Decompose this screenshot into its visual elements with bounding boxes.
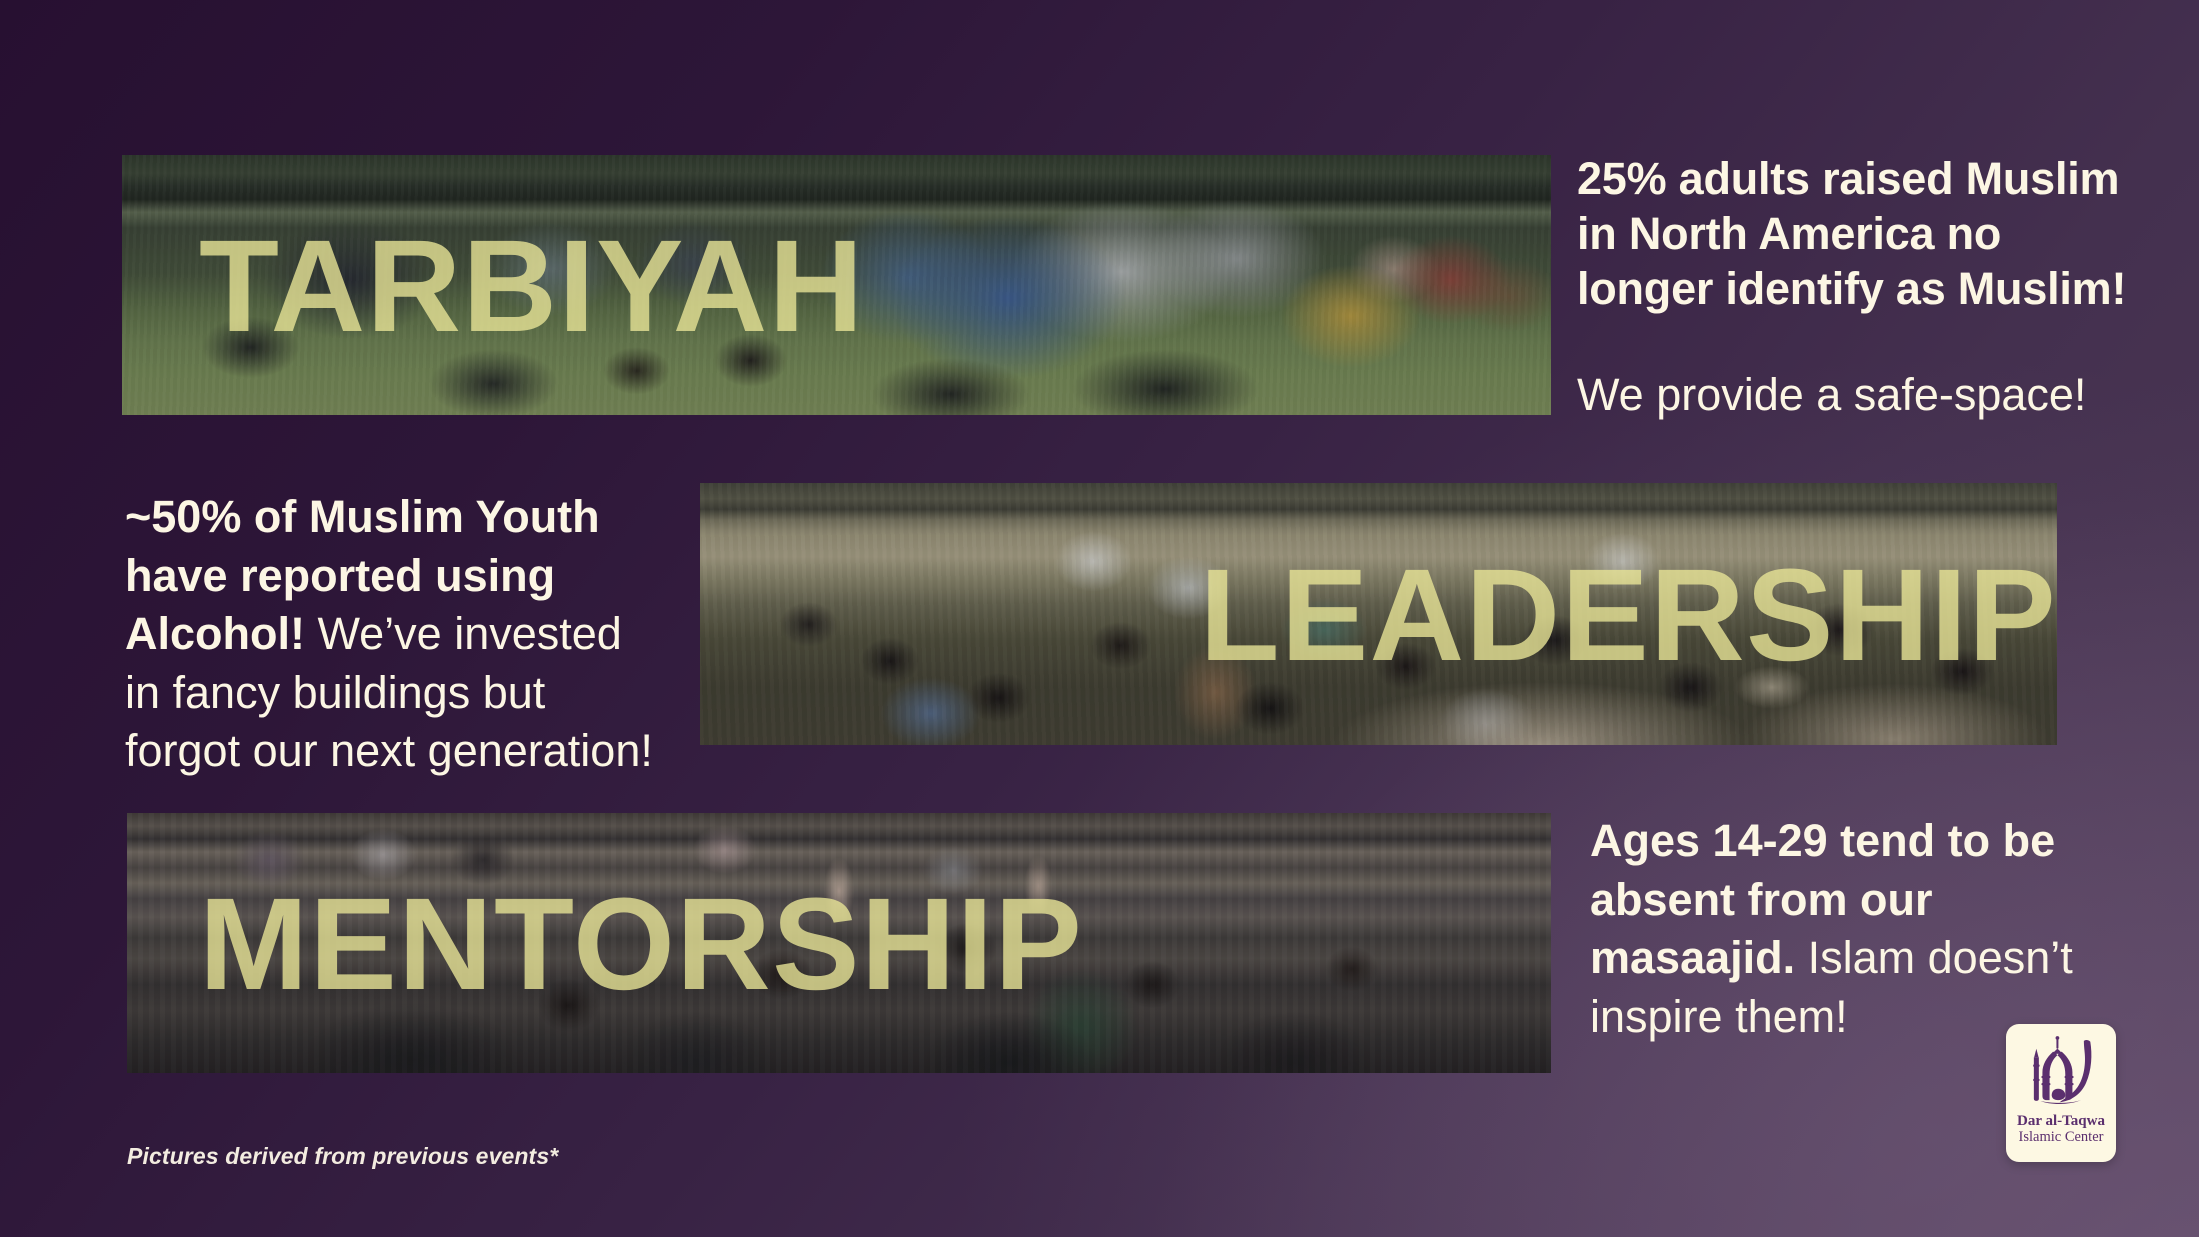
tarbiyah-headline: 25% adults raised Muslim in North Americ… [1577,152,2137,317]
banner-tarbiyah: TARBIYAH [122,155,1551,415]
copy-block-tarbiyah: 25% adults raised Muslim in North Americ… [1577,152,2137,424]
copy-block-alcohol: ~50% of Muslim Youth have reported using… [125,488,665,781]
banner-leadership: LEADERSHIP [700,483,2057,745]
tarbiyah-body: We provide a safe-space! [1577,366,2137,425]
poster-canvas: TARBIYAH 25% adults raised Muslim in Nor… [0,0,2199,1237]
banner-word-mentorship: MENTORSHIP [127,813,1551,1073]
ages-paragraph: Ages 14-29 tend to be absent from our ma… [1590,812,2110,1046]
logo-line-2: Islamic Center [2017,1130,2105,1145]
footnote-text: Pictures derived from previous events* [127,1143,558,1170]
dar-al-taqwa-logo: Dar al-Taqwa Islamic Center [2006,1024,2116,1162]
copy-block-ages: Ages 14-29 tend to be absent from our ma… [1590,812,2110,1046]
banner-word-tarbiyah: TARBIYAH [122,155,1551,415]
banner-word-leadership: LEADERSHIP [700,483,2057,745]
logo-line-1: Dar al-Taqwa [2017,1114,2105,1130]
alcohol-paragraph: ~50% of Muslim Youth have reported using… [125,488,665,781]
banner-mentorship: MENTORSHIP [127,813,1551,1073]
logo-text: Dar al-Taqwa Islamic Center [2017,1114,2105,1145]
mosque-logo-icon [2018,1033,2104,1113]
